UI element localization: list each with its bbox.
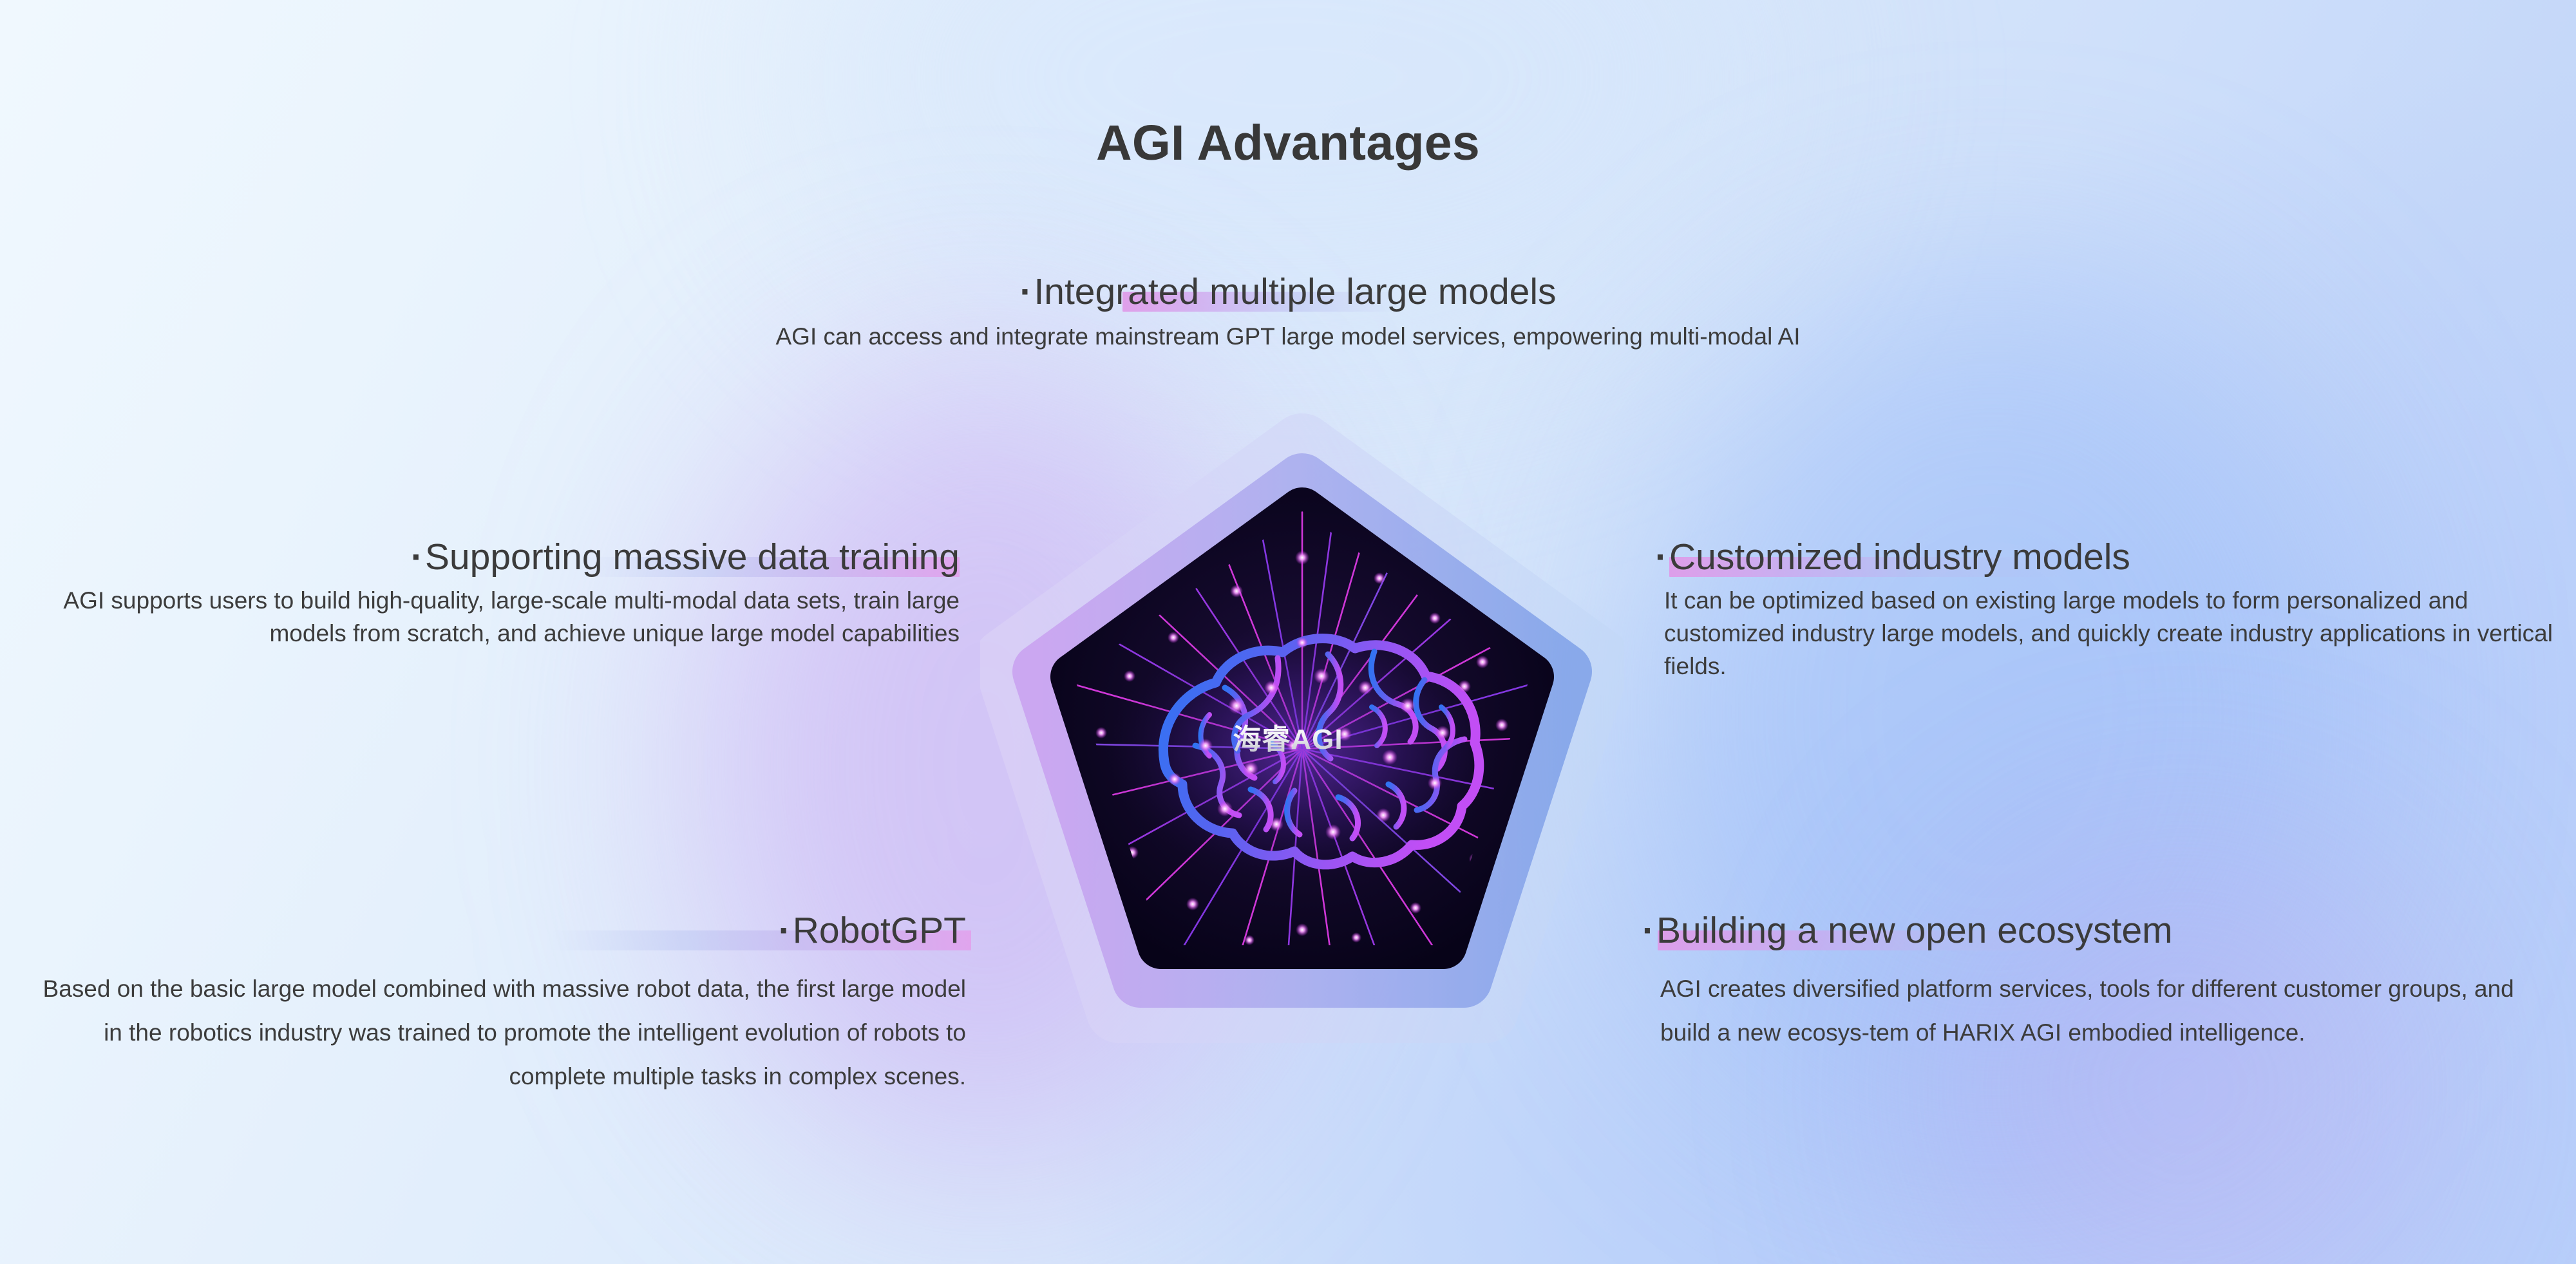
section-body-right-bottom: AGI creates diversified platform service… — [1642, 967, 2557, 1055]
section-customized-industry-models: ·Customized industry models It can be op… — [1655, 536, 2557, 683]
pentagon-graphic — [980, 385, 1624, 1145]
section-heading-left-bottom: ·RobotGPT — [779, 909, 966, 952]
heading-text: Customized industry models — [1669, 536, 2130, 578]
bullet-icon: · — [1642, 910, 1654, 951]
section-integrated-models: ·Integrated multiple large models AGI ca… — [0, 270, 2576, 353]
section-heading-left-top: ·Supporting massive data training — [411, 536, 960, 578]
section-heading-right-bottom: ·Building a new open ecosystem — [1642, 909, 2173, 952]
heading-text: Building a new open ecosystem — [1656, 910, 2173, 951]
heading-text: Integrated multiple large models — [1034, 271, 1556, 312]
bullet-icon: · — [1019, 271, 1032, 312]
section-body-left-bottom: Based on the basic large model combined … — [39, 967, 966, 1099]
bullet-icon: · — [411, 536, 423, 578]
section-body-left-top: AGI supports users to build high-quality… — [45, 584, 960, 650]
section-robotgpt: ·RobotGPT Based on the basic large model… — [39, 909, 966, 1099]
heading-text: RobotGPT — [793, 910, 966, 951]
section-body-right-top: It can be optimized based on existing la… — [1655, 584, 2557, 683]
section-body-top: AGI can access and integrate mainstream … — [0, 320, 2576, 353]
heading-text: Supporting massive data training — [425, 536, 960, 578]
section-heading-top: ·Integrated multiple large models — [1019, 270, 1556, 313]
bullet-icon: · — [1655, 536, 1667, 578]
slide-canvas: AGI Advantages ·Integrated multiple larg… — [0, 0, 2576, 1264]
section-massive-data-training: ·Supporting massive data training AGI su… — [45, 536, 960, 650]
section-open-ecosystem: ·Building a new open ecosystem AGI creat… — [1642, 909, 2557, 1055]
bullet-icon: · — [779, 910, 791, 951]
page-title: AGI Advantages — [0, 115, 2576, 172]
section-heading-right-top: ·Customized industry models — [1655, 536, 2130, 578]
